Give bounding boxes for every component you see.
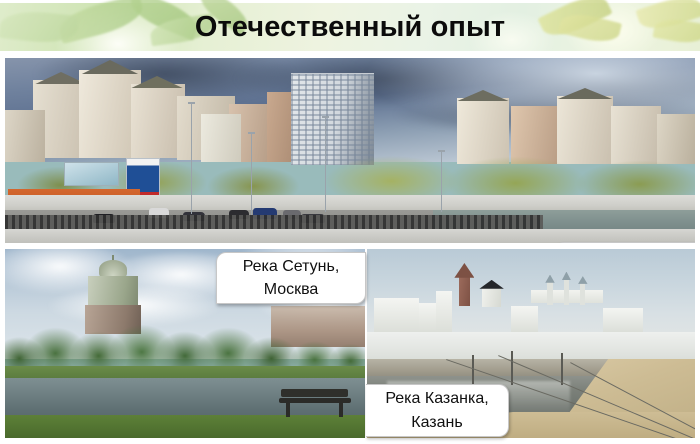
street-lamp: [191, 102, 192, 214]
caption-line-2: Казань: [411, 411, 462, 434]
near-grass-shore: [5, 415, 365, 438]
caption-line-1: Река Сетунь,: [243, 255, 340, 278]
park-bench: [279, 387, 351, 417]
minaret: [564, 280, 569, 305]
high-rise-building: [291, 73, 374, 166]
caption-river-setun: Река Сетунь, Москва: [216, 252, 366, 304]
slide-root: Отечественный опыт: [0, 0, 700, 444]
kazan-kremlin: [367, 275, 695, 332]
river-pole: [561, 353, 563, 385]
parapet: [5, 229, 695, 243]
page-title: Отечественный опыт: [0, 0, 700, 54]
caption-river-yauza: Река Яуза, Москва: [554, 242, 695, 243]
minaret: [547, 282, 552, 305]
caption-river-kazanka: Река Казанка, Казань: [366, 384, 509, 437]
river-pole: [511, 351, 513, 385]
caption-line-2: Москва: [264, 278, 319, 301]
street-lamp: [325, 116, 326, 212]
kremlin-building: [511, 306, 537, 332]
billboard: [64, 162, 119, 186]
syuyumbike-tower: [459, 277, 470, 306]
kremlin-building: [603, 308, 642, 332]
kremlin-tower: [482, 288, 502, 307]
minaret: [580, 283, 585, 305]
bench-leg: [286, 402, 290, 417]
kremlin-building: [374, 298, 420, 332]
street-lamp: [441, 150, 442, 212]
title-banner: Отечественный опыт: [0, 0, 700, 54]
railing-fence: [5, 215, 543, 230]
bench-back: [281, 389, 347, 397]
photo-river-yauza: Река Яуза, Москва: [5, 58, 695, 243]
street-lamp: [251, 132, 252, 216]
kremlin-building: [436, 291, 452, 332]
bench-leg: [339, 402, 343, 417]
caption-line-1: Река Казанка,: [385, 387, 488, 410]
